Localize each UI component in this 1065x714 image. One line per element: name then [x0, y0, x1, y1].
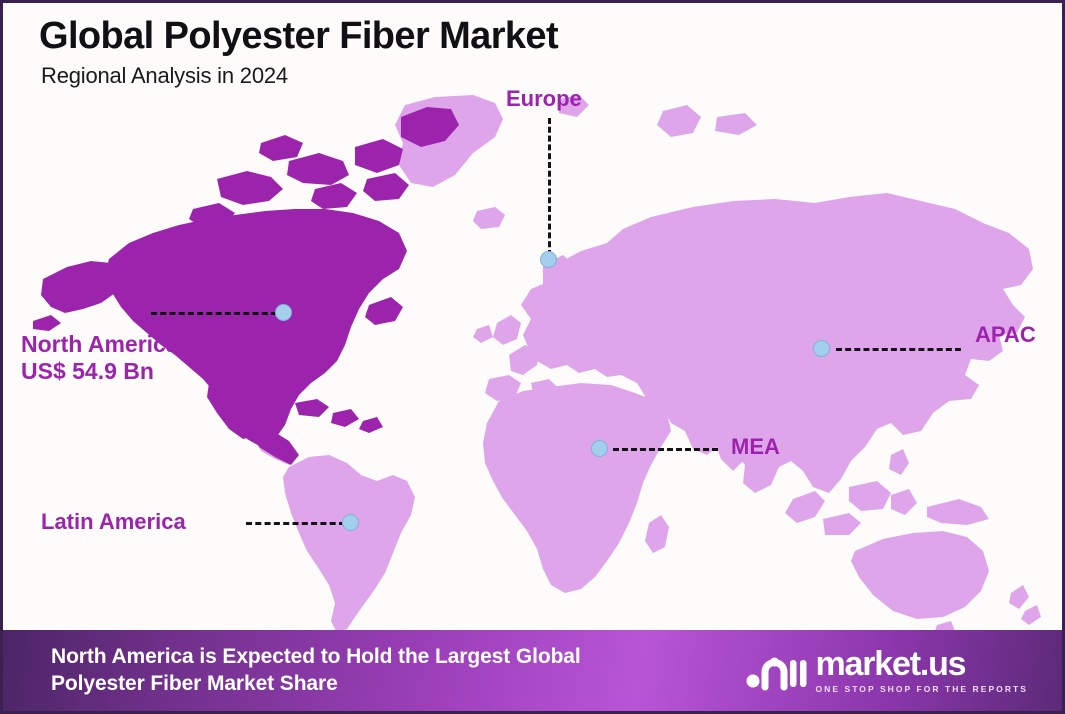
leader-line-latin-america	[246, 522, 345, 525]
leader-line-north-america	[151, 312, 277, 315]
region-name-mea: MEA	[731, 434, 780, 460]
bottom-banner: North America is Expected to Hold the La…	[3, 630, 1062, 711]
leader-line-apac	[836, 348, 961, 351]
region-label-latin-america: Latin America	[41, 509, 186, 535]
logo-wordmark: market.us	[816, 647, 966, 681]
market-us-logo-text: market.us ONE STOP SHOP FOR THE REPORTS	[816, 647, 1028, 694]
banner-headline-line2: Polyester Fiber Market Share	[51, 671, 581, 698]
page-title: Global Polyester Fiber Market	[39, 17, 558, 57]
banner-headline: North America is Expected to Hold the La…	[51, 644, 581, 698]
leader-line-europe	[548, 118, 551, 256]
map-highlight-north-america	[33, 107, 459, 465]
map-base-landmasses	[255, 95, 1041, 635]
region-label-mea: MEA	[731, 434, 780, 460]
market-us-logo[interactable]: market.us ONE STOP SHOP FOR THE REPORTS	[745, 647, 1028, 694]
region-name-north-america: North America	[21, 331, 179, 358]
region-name-apac: APAC	[975, 322, 1036, 348]
map-marker-north-america[interactable]	[275, 304, 292, 321]
map-marker-mea[interactable]	[591, 440, 608, 457]
header-block: Global Polyester Fiber Market Regional A…	[39, 17, 558, 89]
region-name-latin-america: Latin America	[41, 509, 186, 535]
banner-headline-line1: North America is Expected to Hold the La…	[51, 644, 581, 671]
logo-tagline: ONE STOP SHOP FOR THE REPORTS	[816, 684, 1028, 694]
map-marker-europe[interactable]	[540, 251, 557, 268]
page-subtitle: Regional Analysis in 2024	[41, 63, 558, 89]
infographic-canvas: Global Polyester Fiber Market Regional A…	[0, 0, 1065, 714]
region-label-north-america: North America US$ 54.9 Bn	[21, 331, 179, 385]
region-value-north-america: US$ 54.9 Bn	[21, 358, 179, 385]
map-marker-latin-america[interactable]	[342, 514, 359, 531]
region-name-europe: Europe	[506, 86, 582, 112]
market-us-logo-mark	[745, 650, 807, 692]
region-label-europe: Europe	[506, 86, 582, 112]
map-marker-apac[interactable]	[813, 340, 830, 357]
leader-line-mea	[613, 448, 718, 451]
region-label-apac: APAC	[975, 322, 1036, 348]
